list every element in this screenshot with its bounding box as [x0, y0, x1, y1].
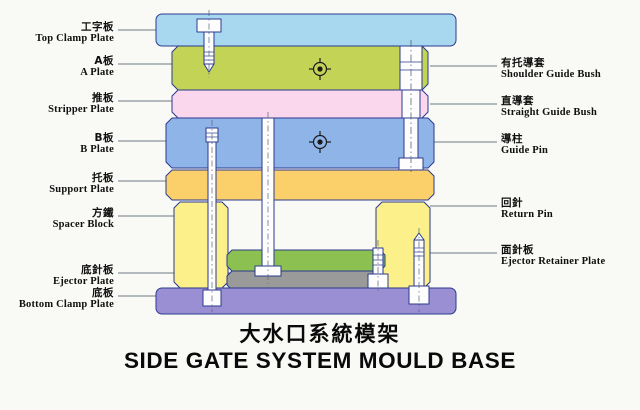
shoulder-guide-bush	[400, 46, 422, 90]
plate-stripper-plate	[172, 90, 428, 118]
mould-base-diagram: 工字板 Top Clamp Plate A板 A Plate 推板 Stripp…	[0, 0, 640, 410]
label-straight-guide-bush-en: Straight Guide Bush	[501, 107, 640, 118]
label-return-pin-en: Return Pin	[501, 209, 640, 220]
label-guide-pin: 導柱 Guide Pin	[501, 134, 640, 157]
label-a-plate-cn: A板	[0, 56, 114, 67]
label-ejector-plate: 底針板 Ejector Plate	[0, 265, 114, 288]
cap-screw-shank	[204, 32, 214, 64]
plate-spacer-block-left	[174, 202, 228, 288]
label-ejector-retainer-plate: 面針板 Ejector Retainer Plate	[501, 245, 640, 268]
label-b-plate: B板 B Plate	[0, 133, 114, 156]
label-a-plate: A板 A Plate	[0, 56, 114, 79]
label-spacer-block-cn: 方鐵	[0, 208, 114, 219]
label-spacer-block: 方鐵 Spacer Block	[0, 208, 114, 231]
plate-b-plate	[166, 118, 434, 168]
label-ejector-plate-cn: 底針板	[0, 265, 114, 276]
label-top-clamp-plate-cn: 工字板	[0, 22, 114, 33]
label-ejector-retainer-plate-cn: 面針板	[501, 245, 640, 256]
label-bottom-clamp-plate-cn: 底板	[0, 288, 114, 299]
label-return-pin-cn: 回針	[501, 198, 640, 209]
label-bottom-clamp-plate: 底板 Bottom Clamp Plate	[0, 288, 114, 311]
label-b-plate-cn: B板	[0, 133, 114, 144]
label-ejector-retainer-plate-en: Ejector Retainer Plate	[501, 256, 640, 267]
diagram-title: 大水口系統模架 SIDE GATE SYSTEM MOULD BASE	[0, 318, 640, 374]
label-ejector-plate-en: Ejector Plate	[0, 276, 114, 287]
label-b-plate-en: B Plate	[0, 144, 114, 155]
title-english: SIDE GATE SYSTEM MOULD BASE	[0, 348, 640, 374]
label-shoulder-guide-bush-en: Shoulder Guide Bush	[501, 69, 640, 80]
label-bottom-clamp-plate-en: Bottom Clamp Plate	[0, 299, 114, 310]
label-a-plate-en: A Plate	[0, 67, 114, 78]
plate-ejector-plate	[227, 271, 385, 290]
label-top-clamp-plate-en: Top Clamp Plate	[0, 33, 114, 44]
label-straight-guide-bush-cn: 直導套	[501, 96, 640, 107]
label-support-plate-cn: 托板	[0, 173, 114, 184]
label-stripper-plate-cn: 推板	[0, 93, 114, 104]
label-top-clamp-plate: 工字板 Top Clamp Plate	[0, 22, 114, 45]
label-return-pin: 回針 Return Pin	[501, 198, 640, 221]
label-stripper-plate-en: Stripper Plate	[0, 104, 114, 115]
label-support-plate-en: Support Plate	[0, 184, 114, 195]
label-spacer-block-en: Spacer Block	[0, 219, 114, 230]
label-straight-guide-bush: 直導套 Straight Guide Bush	[501, 96, 640, 119]
label-shoulder-guide-bush-cn: 有托導套	[501, 58, 640, 69]
plate-ejector-retainer-plate	[227, 250, 385, 271]
plate-support-plate	[166, 170, 434, 200]
title-chinese: 大水口系統模架	[0, 318, 640, 348]
leader-lines-right	[430, 66, 497, 253]
label-guide-pin-cn: 導柱	[501, 134, 640, 145]
label-support-plate: 托板 Support Plate	[0, 173, 114, 196]
label-guide-pin-en: Guide Pin	[501, 145, 640, 156]
label-stripper-plate: 推板 Stripper Plate	[0, 93, 114, 116]
label-shoulder-guide-bush: 有托導套 Shoulder Guide Bush	[501, 58, 640, 81]
